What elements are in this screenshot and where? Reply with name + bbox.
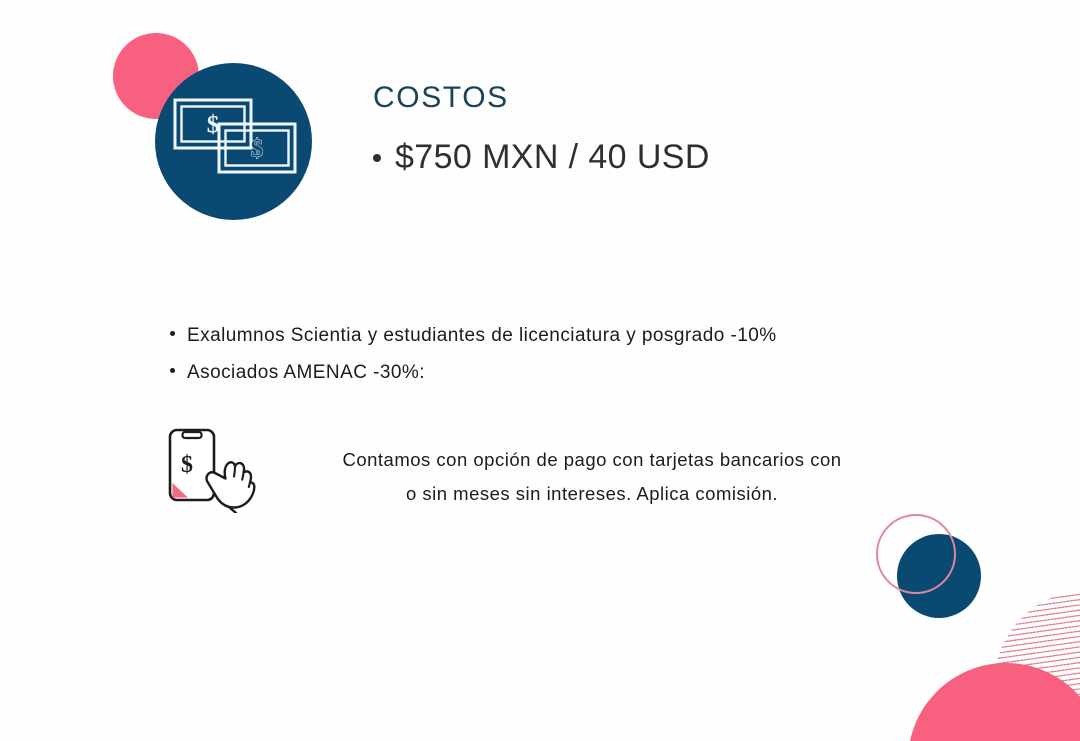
payment-note-text: Contamos con opción de pago con tarjetas… [258,425,926,511]
banknotes-icon: $ $ [172,97,298,175]
page-title: COSTOS [373,80,710,116]
payment-note-row: $ Contamos con opción de pago con tarjet… [166,425,926,513]
list-item: Asociados AMENAC -30%: [170,363,777,382]
price-text: $750 MXN / 40 USD [395,138,710,177]
heading-block: COSTOS $750 MXN / 40 USD [373,80,710,177]
phone-tap-payment-icon: $ [166,425,258,513]
payment-note-line-1: Contamos con opción de pago con tarjetas… [258,443,926,477]
slide-canvas: $ $ COSTOS $750 MXN / 40 USD Exalumnos S… [0,0,1080,741]
discount-list: Exalumnos Scientia y estudiantes de lice… [170,326,777,400]
svg-text:$: $ [251,136,264,163]
svg-text:$: $ [207,112,220,139]
payment-note-line-2: o sin meses sin intereses. Aplica comisi… [258,477,926,511]
svg-text:$: $ [181,452,193,478]
bullet-marker-icon [170,368,175,373]
bullet-marker-icon [170,331,175,336]
discount-item-text: Asociados AMENAC -30%: [187,363,425,382]
decorative-pink-circle-bottom-right [908,663,1080,741]
decorative-pink-ring-bottom-right [876,514,956,594]
list-item: Exalumnos Scientia y estudiantes de lice… [170,326,777,345]
discount-item-text: Exalumnos Scientia y estudiantes de lice… [187,326,777,345]
bullet-marker-icon [373,154,381,162]
price-line: $750 MXN / 40 USD [373,138,710,177]
